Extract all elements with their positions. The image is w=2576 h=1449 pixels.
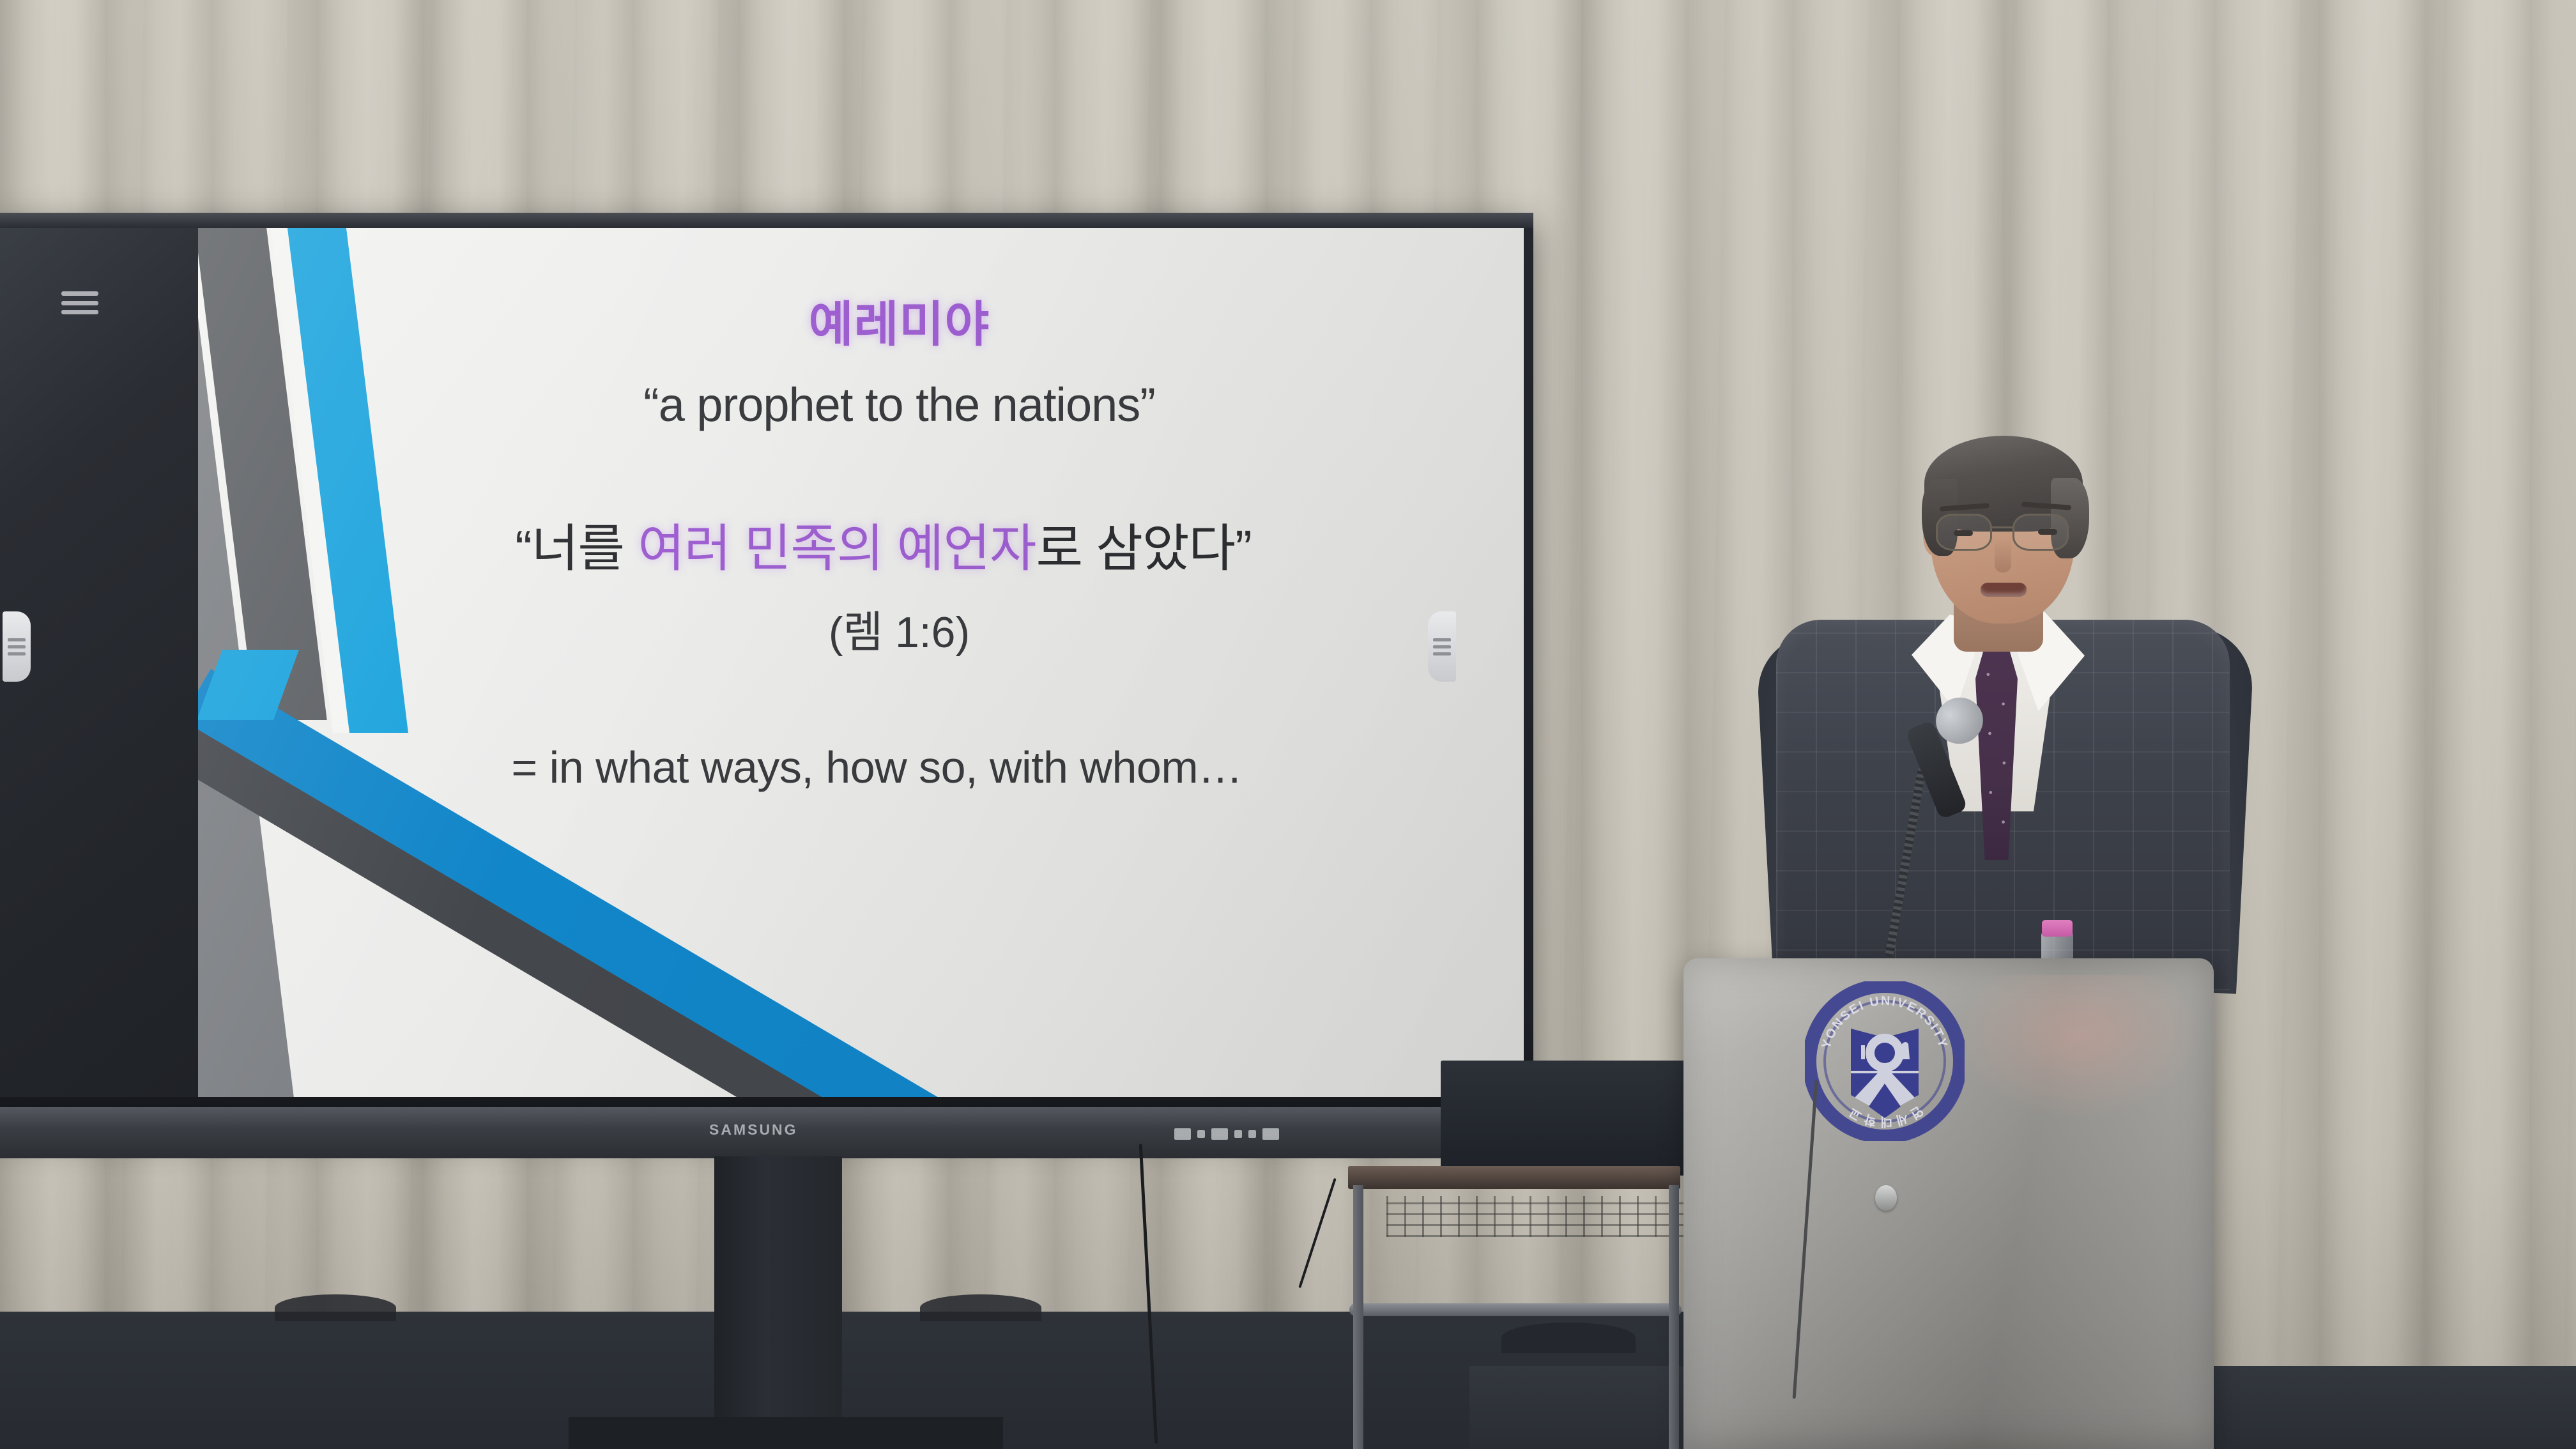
lecture-hall-scene: 예레미야 “a prophet to the nations” “너를 여러 민…: [0, 0, 2576, 1449]
menu-tab-icon: [1433, 638, 1451, 655]
quote-part-1: 너를: [532, 520, 638, 577]
water-bottle-cap[interactable]: [2042, 920, 2073, 937]
podium-knob[interactable]: [1875, 1185, 1897, 1211]
slide-content: 예레미야 “a prophet to the nations” “너를 여러 민…: [198, 228, 1524, 1097]
trolley-leg-left: [1353, 1185, 1363, 1449]
speaker-presenter: [1751, 409, 2255, 984]
trolley-wire-basket: [1386, 1196, 1683, 1237]
presentation-slide: 예레미야 “a prophet to the nations” “너를 여러 민…: [198, 228, 1524, 1097]
display-stand-base: [569, 1417, 1003, 1449]
display-screen[interactable]: 예레미야 “a prophet to the nations” “너를 여러 민…: [0, 228, 1524, 1097]
slide-subtitle: “a prophet to the nations”: [643, 378, 1155, 432]
eyeglass-lens-right: [2012, 514, 2069, 551]
floor-object-3: [1501, 1322, 1636, 1353]
slide-title: 예레미야: [809, 300, 990, 351]
slide-scripture-reference: (렘 1:6): [829, 597, 970, 660]
floor-object-2: [920, 1294, 1041, 1321]
floor-object-1: [275, 1294, 396, 1321]
samsung-display[interactable]: 예레미야 “a prophet to the nations” “너를 여러 민…: [0, 213, 1533, 1128]
slide-quote: “너를 여러 민족의 예언자로 삼았다”: [515, 507, 1252, 581]
display-left-menu-tab[interactable]: [3, 611, 31, 682]
display-port-strip[interactable]: [1174, 1126, 1312, 1142]
trolley-tabletop: [1348, 1166, 1680, 1189]
quote-close-mark: ”: [1235, 520, 1252, 577]
nose: [1995, 539, 2011, 572]
quote-part-2: 로 삼았다: [1036, 520, 1236, 577]
lectern-podium: YONSEI UNIVERSITY 연세대학교: [1683, 958, 2214, 1449]
quote-highlight: 여러 민족의 예언자: [638, 520, 1036, 577]
quote-open-mark: “: [515, 520, 532, 577]
eyeglass-lens-left: [1936, 514, 1992, 551]
display-stand-column: [714, 1156, 842, 1449]
hamburger-menu-icon[interactable]: [61, 291, 98, 314]
trolley-rail: [1349, 1303, 1682, 1316]
podium-warm-reflection: [1952, 975, 2207, 1122]
mouth: [1981, 583, 2027, 597]
laptop-on-trolley[interactable]: [1441, 1061, 1696, 1176]
display-right-menu-tab[interactable]: [1428, 611, 1456, 682]
display-bezel-top: [0, 213, 1533, 228]
yonsei-university-emblem-icon: YONSEI UNIVERSITY 연세대학교: [1805, 981, 1965, 1141]
menu-tab-icon: [8, 638, 26, 655]
trolley-leg-right: [1669, 1185, 1679, 1449]
eyeglass-bridge: [1992, 526, 2014, 528]
display-brand-logo: SAMSUNG: [709, 1121, 798, 1138]
slide-footer-note: = in what ways, how so, with whom…: [511, 742, 1242, 793]
